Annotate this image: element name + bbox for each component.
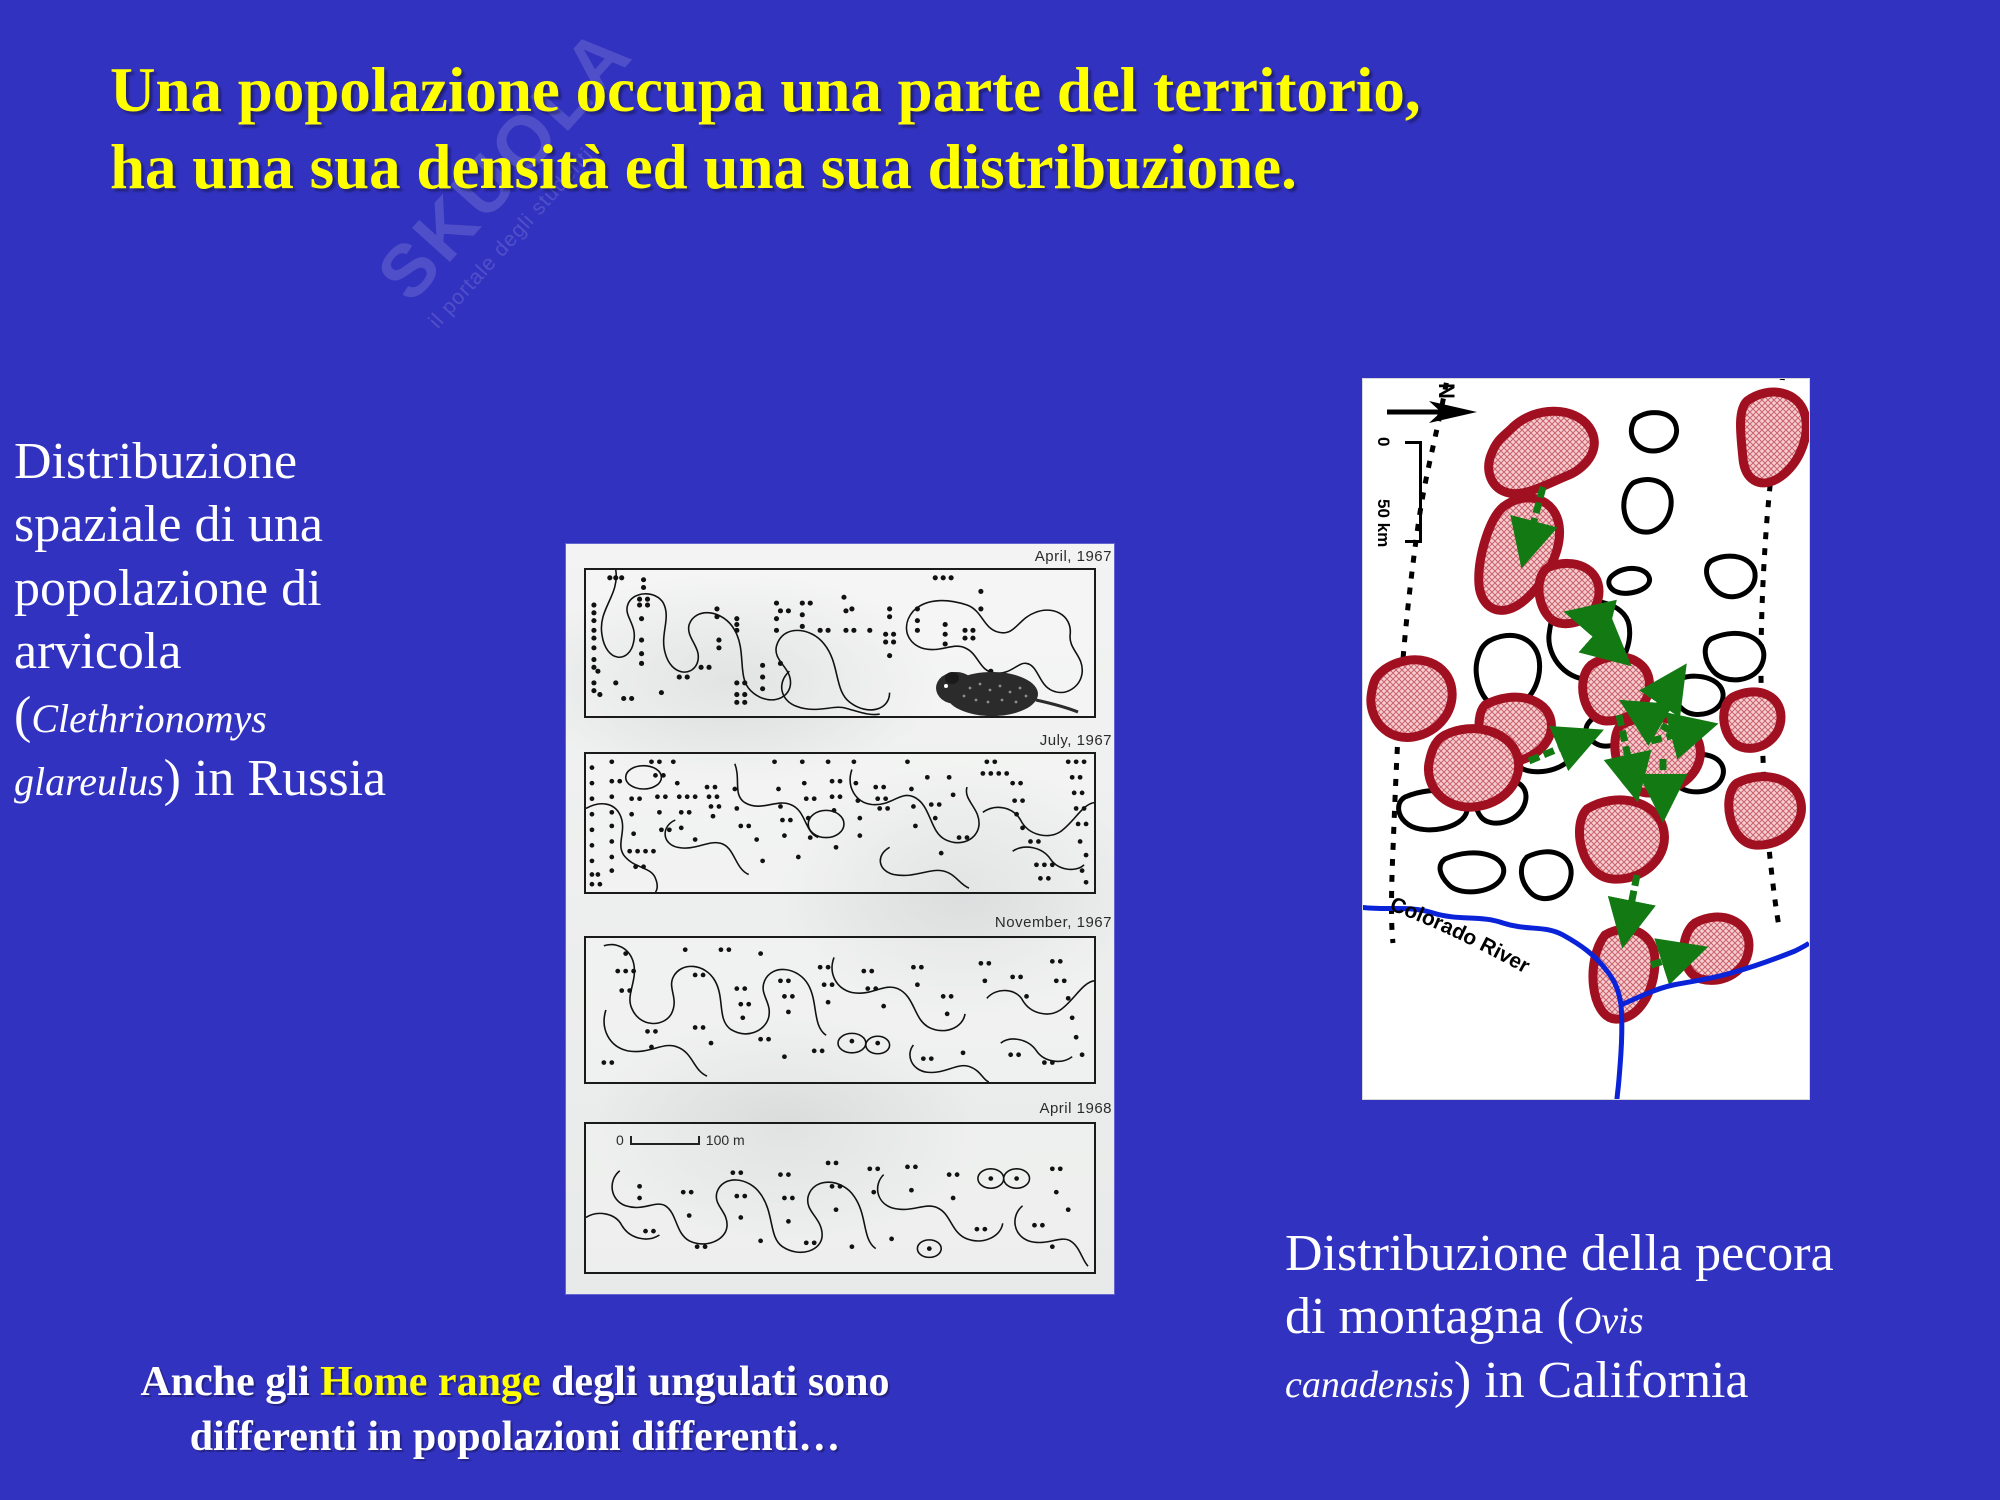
title-line-2: ha una sua densità ed una sua distribuzi… — [110, 129, 1890, 206]
right-figure-caption: Distribuzione della pecora di montagna (… — [1285, 1222, 1995, 1412]
scale-zero-label: 0 — [616, 1132, 624, 1148]
scale-zero-label-right: 0 — [1373, 437, 1393, 446]
left-figure-caption: Distribuzione spaziale di una popolazion… — [14, 430, 484, 811]
bottom-left-note-line-2: differenti in popolazioni differenti… — [20, 1410, 1010, 1465]
scale-bracket — [1405, 441, 1422, 543]
left-caption-species-line-2: glareulus) in Russia — [14, 747, 484, 810]
vole-panel-july-1967 — [584, 752, 1096, 894]
left-caption-line-4: arvicola — [14, 620, 484, 683]
right-close-paren: ) — [1454, 1352, 1471, 1409]
right-caption-line-1: Distribuzione della pecora — [1285, 1222, 1995, 1285]
panel-label-april-1967: April, 1967 — [1035, 548, 1112, 565]
scale-bar-right-figure: 0 50 km — [1377, 437, 1437, 597]
note-part-2: degli ungulati sono — [541, 1359, 890, 1405]
panel-label-july-1967: July, 1967 — [1040, 732, 1112, 749]
scale-distance-label: 100 m — [706, 1132, 745, 1148]
left-caption-species-line-1: (Clethrionomys — [14, 684, 484, 747]
vole-panel-april-1968: 0 100 m — [584, 1122, 1096, 1274]
vole-illustration — [930, 658, 1080, 722]
vole-panel-april-1967 — [584, 568, 1096, 718]
vole-panel-november-1967 — [584, 936, 1096, 1084]
scale-distance-label-right: 50 km — [1373, 499, 1393, 547]
vole-panel-3-contours — [586, 938, 1094, 1082]
open-paren: ( — [14, 687, 31, 744]
panel-label-april-1968: April 1968 — [1039, 1100, 1112, 1117]
note-highlight: Home range — [320, 1359, 540, 1405]
note-part-1: Anche gli — [140, 1359, 320, 1405]
vole-spatial-distribution-figure: April, 1967 — [566, 544, 1114, 1294]
north-label: N — [1433, 383, 1459, 399]
bighorn-sheep-distribution-map: N 0 50 km Colorado River — [1362, 378, 1810, 1100]
left-caption-suffix: in Russia — [181, 750, 386, 807]
left-caption-line-3: popolazione di — [14, 557, 484, 620]
right-caption-line-3: canadensis) in California — [1285, 1349, 1995, 1412]
panel-label-november-1967: November, 1967 — [995, 914, 1112, 931]
scale-bar-left-figure: 0 100 m — [616, 1132, 745, 1148]
title-line-1: Una popolazione occupa una parte del ter… — [110, 55, 1421, 125]
vole-panel-2-contours — [586, 754, 1094, 892]
right-caption-suffix: in California — [1471, 1352, 1748, 1409]
right-caption-prefix: di montagna ( — [1285, 1288, 1574, 1345]
close-paren: ) — [164, 750, 181, 807]
slide-title: Una popolazione occupa una parte del ter… — [110, 52, 1890, 206]
slide: SKUOLA il portale degli studenti Una pop… — [0, 0, 2000, 1500]
left-caption-line-2: spaziale di una — [14, 493, 484, 556]
left-caption-line-1: Distribuzione — [14, 430, 484, 493]
species-genus: Clethrionomys — [31, 696, 267, 741]
right-caption-line-2: di montagna (Ovis — [1285, 1285, 1995, 1348]
right-species-epithet: canadensis — [1285, 1364, 1454, 1406]
bottom-left-note: Anche gli Home range degli ungulati sono… — [20, 1355, 1010, 1466]
species-epithet: glareulus — [14, 759, 164, 804]
right-species-genus: Ovis — [1574, 1300, 1644, 1342]
north-arrow-icon — [1385, 395, 1505, 429]
scale-bar-line — [630, 1136, 700, 1145]
bottom-left-note-line-1: Anche gli Home range degli ungulati sono — [20, 1355, 1010, 1410]
